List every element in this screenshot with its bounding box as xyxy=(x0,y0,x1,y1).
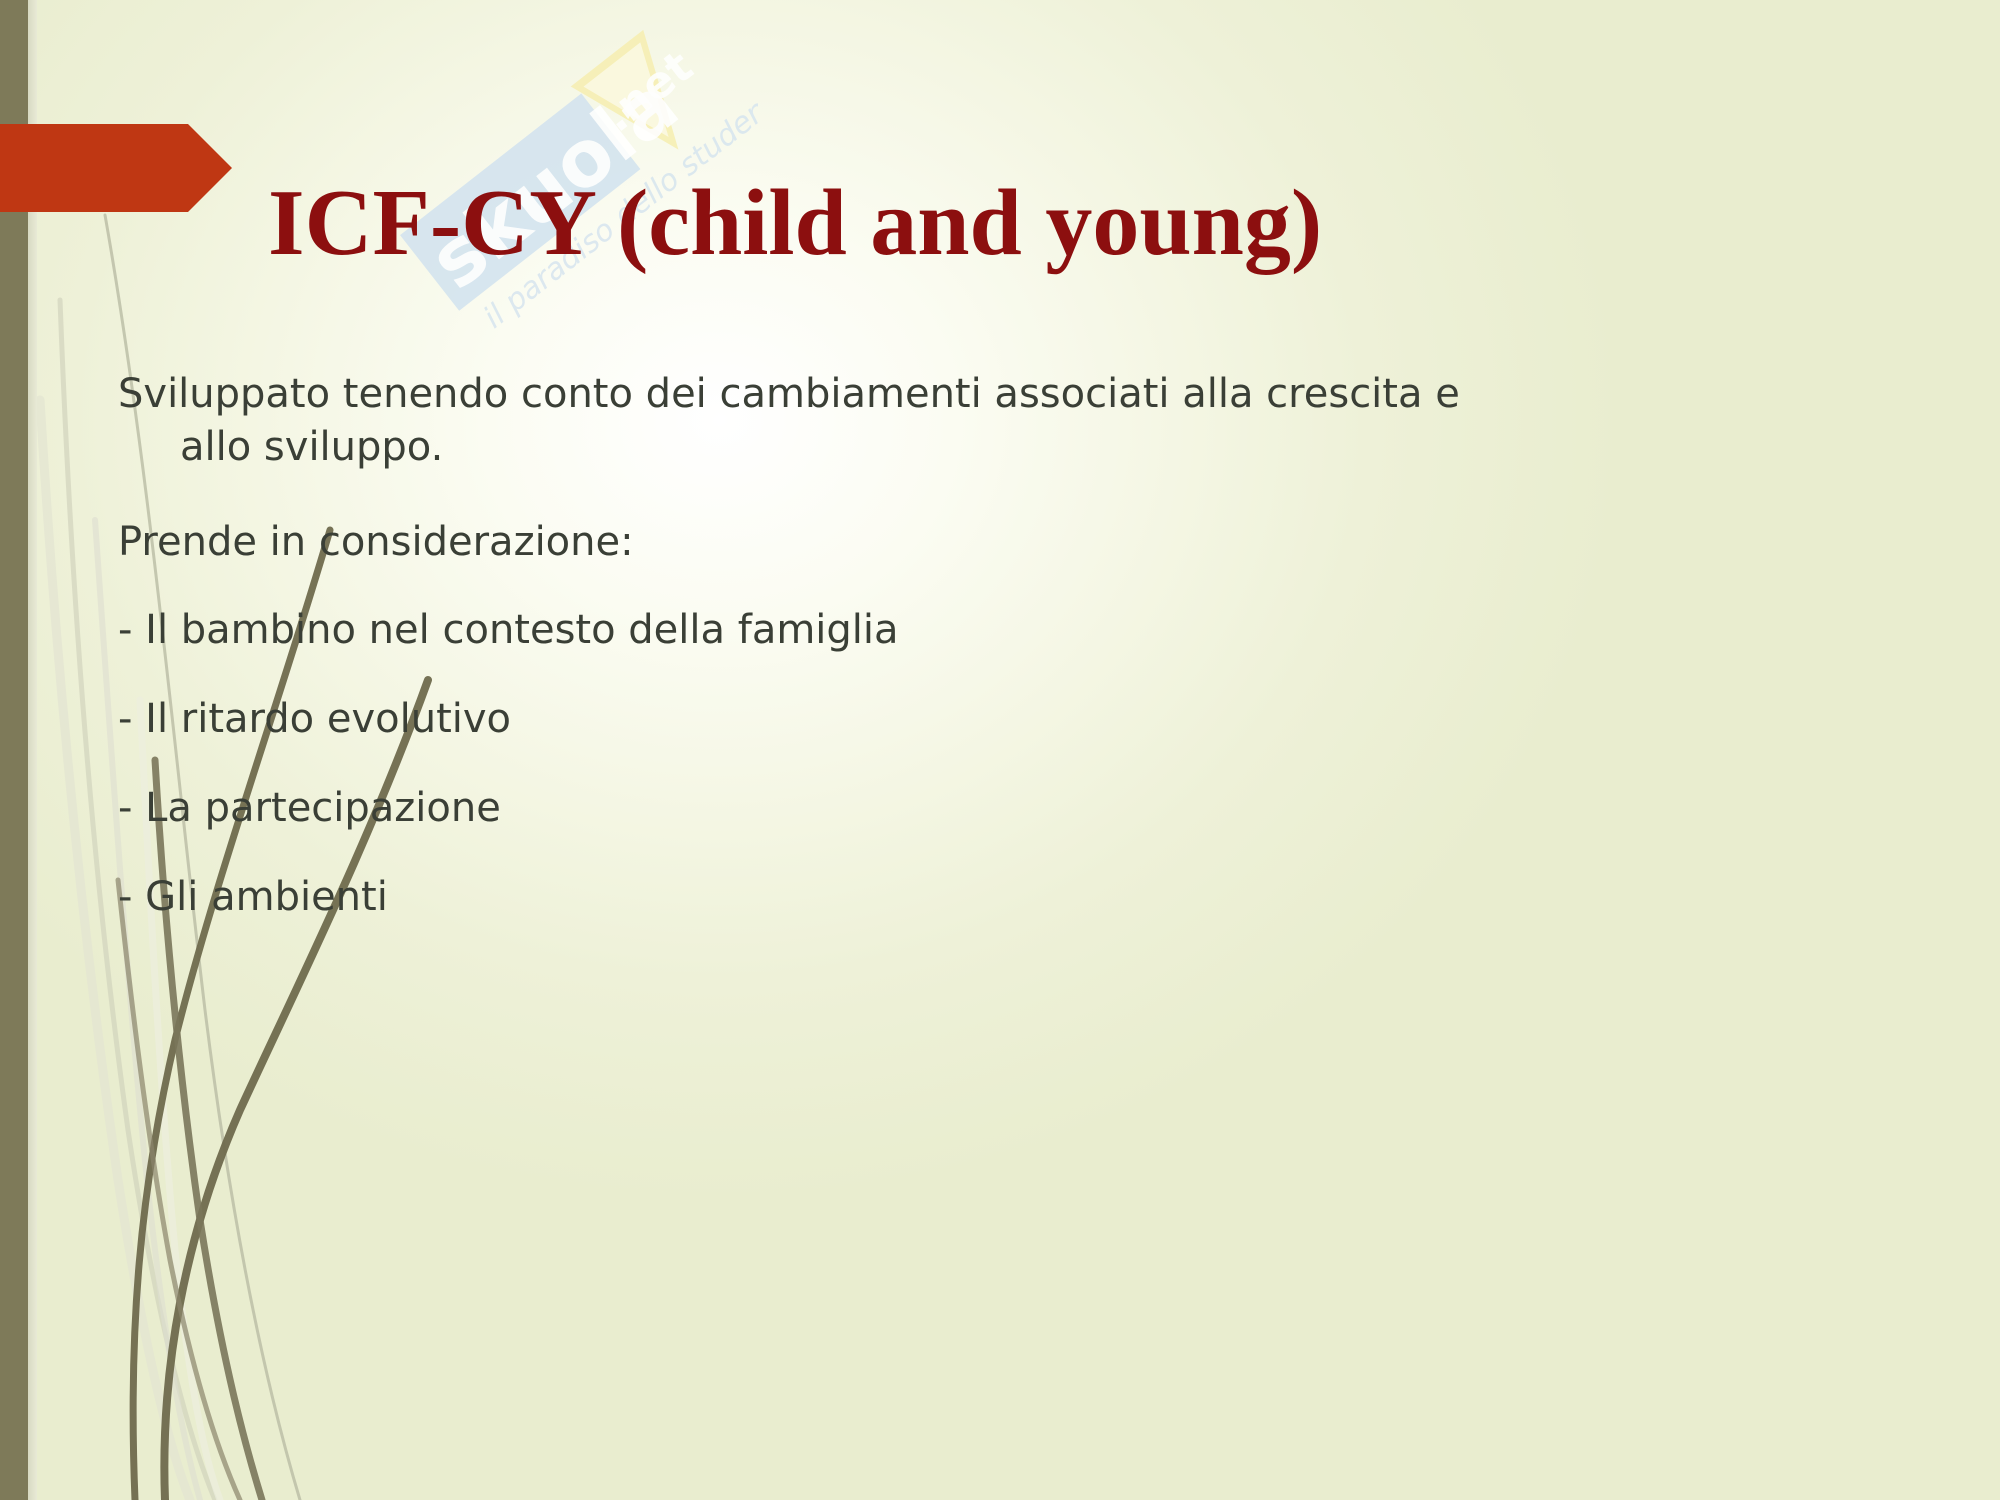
left-accent-band xyxy=(0,0,28,1500)
slide-body: Sviluppato tenendo conto dei cambiamenti… xyxy=(118,368,1518,960)
left-accent-band-shadow xyxy=(28,0,37,1500)
paragraph-1-line-2: allo sviluppo. xyxy=(180,424,443,470)
body-paragraph-2: Prende in considerazione: xyxy=(118,516,1518,569)
list-item: - Il bambino nel contesto della famiglia xyxy=(118,604,1518,657)
slide-canvas: skuola .net il paradiso dello studente I… xyxy=(0,0,2000,1500)
slide-title: ICF-CY (child and young) xyxy=(268,176,1948,270)
list-item: - Gli ambienti xyxy=(118,871,1518,924)
svg-text:.net: .net xyxy=(593,41,702,142)
list-item: - Il ritardo evolutivo xyxy=(118,693,1518,746)
arrow-banner-icon xyxy=(0,124,232,212)
list-item: - La partecipazione xyxy=(118,782,1518,835)
paragraph-1-line-1: Sviluppato tenendo conto dei cambiamenti… xyxy=(118,371,1460,417)
body-paragraph-1: Sviluppato tenendo conto dei cambiamenti… xyxy=(118,368,1518,474)
